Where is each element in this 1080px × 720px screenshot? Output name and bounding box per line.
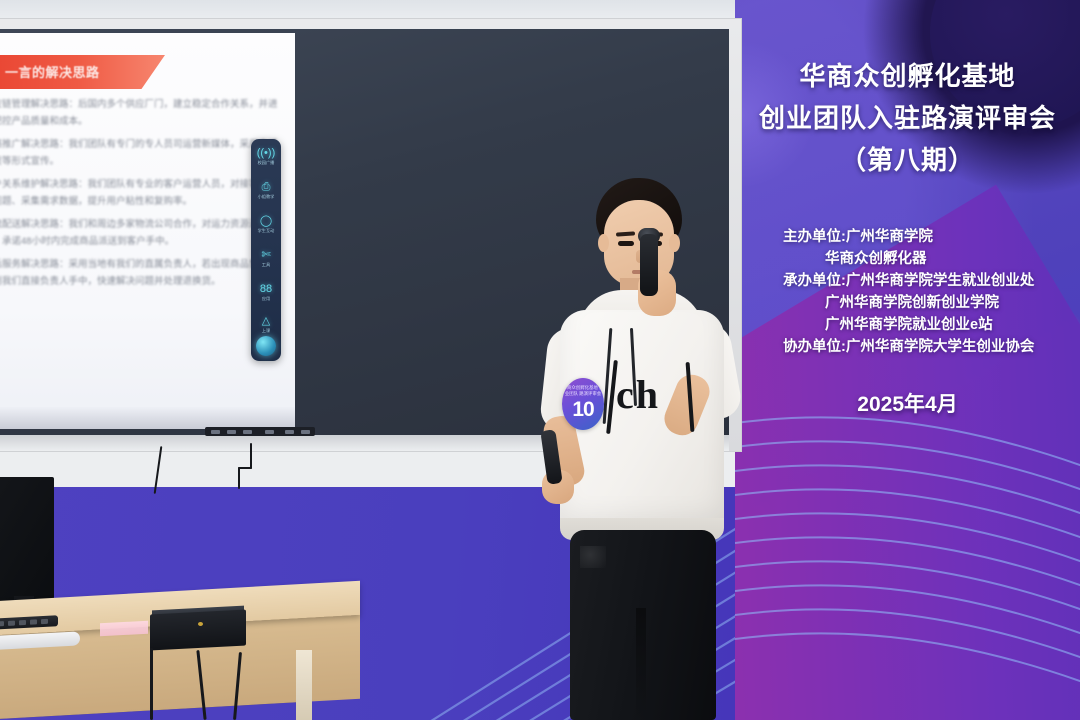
toolbar-label: 工具 — [251, 262, 281, 268]
smartboard-toolbar[interactable]: ((•)) 校园广播 ⎙ 小组教学 ◯ 学生互动 ✄ 工具 88 应用 — [251, 139, 281, 361]
tools-icon: ✄ — [251, 249, 281, 261]
slide-bottom-shadow — [0, 407, 295, 429]
toolbar-item-student-interaction[interactable]: ◯ 学生互动 — [251, 215, 281, 234]
toolbar-item-apps[interactable]: 88 应用 — [251, 283, 281, 302]
organizer-line-0: 主办单位:广州华商学院 — [747, 226, 1074, 248]
banner-title-line-3: （第八期） — [735, 140, 1080, 177]
participant-number-badge: 华商众创孵化基地 创业团队 路演评审会 10 — [562, 378, 604, 430]
toolbar-item-class-bell[interactable]: △ 上课 — [251, 315, 281, 334]
badge-caption: 华商众创孵化基地 创业团队 路演评审会 — [562, 385, 604, 396]
pants-leg-seam — [636, 608, 646, 720]
presenter-eye-left — [618, 241, 634, 246]
slide-heading-text: 一言的解决思路 — [5, 62, 100, 81]
presenter-ear-left — [598, 234, 609, 252]
screenshot-root: 华商众创孵化基地 创业团队入驻路演评审会 （第八期） 主办单位:广州华商学院 华… — [0, 0, 1080, 720]
organizer-line-2: 承办单位:广州华商学院学生就业创业处 — [747, 270, 1074, 292]
slide-paragraph: 供应链管理解决思路：后国内多个供应厂门，建立稳定合作关系，并进入把控产品质量和成… — [0, 97, 283, 130]
banner-text-block: 华商众创孵化基地 创业团队入驻路演评审会 （第八期） 主办单位:广州华商学院 华… — [735, 0, 1080, 720]
toolbar-label: 应用 — [251, 296, 281, 302]
globe-icon[interactable] — [256, 336, 276, 356]
organizer-line-3: 广州华商学院创新创业学院 — [747, 292, 1074, 314]
refresh-icon: ◯ — [251, 215, 281, 227]
desk-device[interactable] — [150, 609, 246, 650]
slide-body-text: 供应链管理解决思路：后国内多个供应厂门，建立稳定合作关系，并进入把控产品质量和成… — [0, 97, 283, 297]
desk-leg — [296, 650, 312, 720]
slide-paragraph: 售后服务解决思路：采用当地有我们的直属负责人，若出现商品售卖异常则我们直接负责人… — [0, 257, 283, 290]
toolbar-item-broadcast[interactable]: ((•)) 校园广播 — [251, 147, 281, 166]
microphone-body — [640, 234, 658, 296]
banner-title-line-1: 华商众创孵化基地 — [735, 56, 1080, 93]
banner-organizer-list: 主办单位:广州华商学院 华商众创孵化器 承办单位:广州华商学院学生就业创业处 广… — [747, 226, 1074, 358]
presenter-ear-right — [669, 234, 680, 252]
organizer-line-4: 广州华商学院就业创业e站 — [747, 314, 1074, 336]
toolbar-label: 小组教学 — [251, 194, 281, 200]
organizer-line-5: 协办单位:广州华商学院大学生创业协会 — [747, 336, 1074, 358]
slide-paragraph: 客户关系维护解决思路：我们团队有专业的客户运营人员，对接客户反馈问题、采集需求数… — [0, 177, 283, 210]
toolbar-label: 上课 — [251, 328, 281, 334]
broadcast-icon: ((•)) — [251, 147, 281, 159]
event-backdrop-banner: 华商众创孵化基地 创业团队入驻路演评审会 （第八期） 主办单位:广州华商学院 华… — [735, 0, 1080, 720]
slide-paragraph: 物流配送解决思路：我们和周边多家物流公司合作，对运力资源进行调配，承诺48小时内… — [0, 217, 283, 250]
under-desk-cable — [150, 648, 153, 720]
toolbar-item-screen-share[interactable]: ⎙ 小组教学 — [251, 181, 281, 200]
banner-date: 2025年4月 — [735, 388, 1080, 418]
hoodie-logo: ch — [616, 366, 690, 426]
organizer-line-1: 华商众创孵化器 — [747, 248, 1074, 270]
screen-share-icon: ⎙ — [251, 181, 281, 193]
toolbar-item-tools[interactable]: ✄ 工具 — [251, 249, 281, 268]
presenter: ch 华商众创孵化基地 创业团队 路演评审会 10 — [520, 178, 760, 720]
slide-heading-banner: 一言的解决思路 — [0, 55, 165, 89]
toolbar-label: 校园广播 — [251, 160, 281, 166]
pants-pocket — [580, 546, 606, 568]
banner-title-line-2: 创业团队入驻路演评审会 — [735, 98, 1080, 135]
pink-paper — [100, 621, 148, 637]
badge-number: 10 — [562, 398, 604, 422]
bell-icon: △ — [251, 315, 281, 327]
toolbar-label: 学生互动 — [251, 228, 281, 234]
apps-grid-icon: 88 — [251, 283, 281, 295]
display-monitor — [0, 477, 54, 604]
slide-paragraph: 网络推广解决思路：我们团队有专门的专人员司运营新媒体，采用直播带货等形式宣传。 — [0, 137, 283, 170]
smartboard-control-panel[interactable] — [205, 427, 315, 436]
device-indicator-light — [198, 622, 203, 626]
